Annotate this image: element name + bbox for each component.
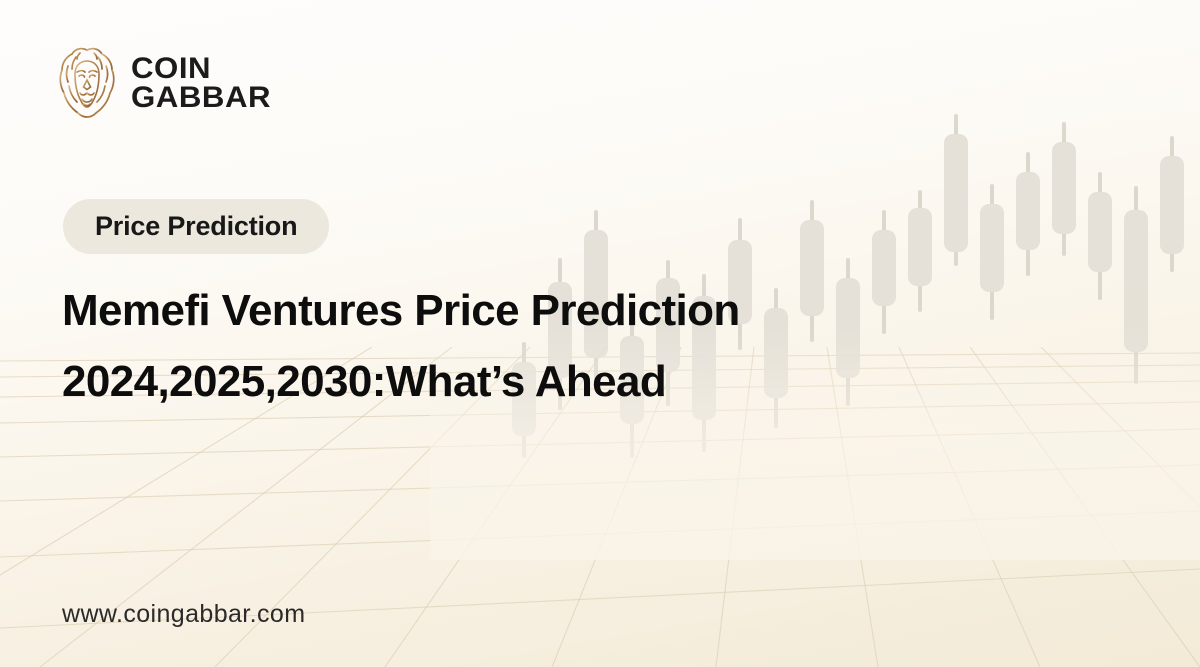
- page-title: Memefi Ventures Price Prediction 2024,20…: [62, 275, 912, 418]
- logo-line-gabbar: GABBAR: [131, 83, 271, 112]
- coingabbar-logo[interactable]: COIN GABBAR: [56, 44, 266, 122]
- lion-head-icon: [56, 44, 118, 122]
- logo-line-coin: COIN: [131, 54, 271, 83]
- price-prediction-banner: COIN GABBAR Price Prediction Memefi Vent…: [0, 0, 1200, 667]
- category-badge[interactable]: Price Prediction: [63, 199, 329, 254]
- site-url[interactable]: www.coingabbar.com: [62, 600, 305, 629]
- logo-wordmark: COIN GABBAR: [131, 54, 266, 112]
- category-badge-label: Price Prediction: [95, 211, 297, 242]
- headline-line-1: Memefi Ventures Price Prediction: [62, 275, 912, 346]
- headline-line-2: 2024,2025,2030:What’s Ahead: [62, 346, 912, 417]
